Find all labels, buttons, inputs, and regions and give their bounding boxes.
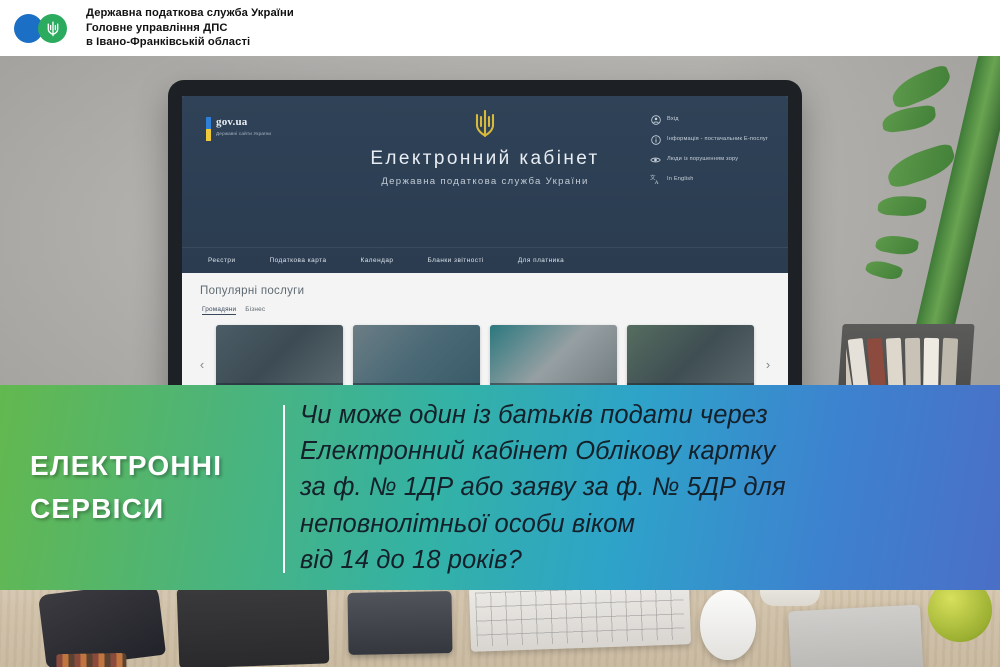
- agency-title-line-1: Державна податкова служба України: [86, 6, 294, 21]
- promo-banner: ЕЛЕКТРОННІ СЕРВІСИ Чи може один із батьк…: [0, 385, 1000, 590]
- tryzub-emblem-icon: [474, 110, 496, 143]
- site-header: Державна податкова служба України Головн…: [0, 0, 1000, 56]
- trackpad: [788, 605, 924, 667]
- agency-title-line-3: в Івано-Франківській області: [86, 35, 294, 50]
- question-line-5: від 14 до 18 років?: [300, 542, 992, 578]
- user-icon: [650, 114, 661, 125]
- nav-item-for-taxpayer[interactable]: Для платника: [518, 257, 564, 264]
- question-line-4: неповнолітньої особи віком: [300, 506, 992, 542]
- translate-icon: 文A: [650, 174, 661, 185]
- cactus-leaf: [877, 194, 926, 217]
- small-notebook: [347, 591, 452, 655]
- svg-text:A: A: [655, 180, 659, 185]
- tab-citizens[interactable]: Громадяни: [202, 306, 236, 315]
- banner-heading-line-2: СЕРВІСИ: [30, 488, 283, 531]
- notebook: [177, 583, 330, 667]
- agency-logo: [14, 12, 76, 44]
- govua-name: gov.ua: [216, 116, 271, 129]
- info-icon: [650, 134, 661, 145]
- tab-business[interactable]: Бізнес: [245, 306, 265, 313]
- utility-item-label: Вхід: [667, 114, 679, 123]
- banner-heading: ЕЛЕКТРОННІ СЕРВІСИ: [0, 385, 283, 590]
- cactus-leaf: [887, 63, 954, 110]
- question-line-2: Електронний кабінет Облікову картку: [300, 433, 992, 469]
- chevron-right-icon[interactable]: ›: [758, 358, 778, 371]
- utility-item-info[interactable]: Інформація - постачальник Е-послуг: [650, 134, 770, 145]
- keyboard: [469, 580, 691, 652]
- nav-item-tax-map[interactable]: Податкова карта: [270, 257, 327, 264]
- ek-main-nav: Реєстри Податкова карта Календар Бланки …: [182, 247, 788, 273]
- banner-question: Чи може один із батьків подати через Еле…: [300, 385, 992, 590]
- utility-item-label: Люди із порушенням зору: [667, 154, 738, 163]
- question-line-1: Чи може один із батьків подати через: [300, 397, 992, 433]
- audience-tabs: Громадяни Бізнес: [202, 306, 265, 315]
- utility-item-accessibility[interactable]: Люди із порушенням зору: [650, 154, 770, 165]
- utility-item-label: Інформація - постачальник Е-послуг: [667, 134, 768, 143]
- keyboard-keys: [475, 585, 685, 646]
- utility-item-login[interactable]: Вхід: [650, 114, 770, 125]
- cactus-leaf: [883, 142, 958, 190]
- ek-site-header: gov.ua Державні сайти України Електронни…: [182, 96, 788, 273]
- agency-title-line-2: Головне управління ДПС: [86, 21, 294, 36]
- banner-divider: [283, 405, 285, 573]
- nav-item-report-forms[interactable]: Бланки звітності: [427, 257, 483, 264]
- govua-logo[interactable]: gov.ua Державні сайти України: [206, 116, 271, 141]
- banner-heading-line-1: ЕЛЕКТРОННІ: [30, 445, 283, 488]
- logo-green-trident-icon: [38, 14, 67, 43]
- popular-services-title: Популярні послуги: [200, 285, 304, 297]
- nav-item-registers[interactable]: Реєстри: [208, 257, 236, 264]
- cactus-plant: [798, 56, 998, 356]
- agency-title-block: Державна податкова служба України Головн…: [86, 6, 294, 51]
- utility-menu: Вхід Інформація - постачальник Е-послуг: [650, 114, 770, 194]
- govua-flag-icon: [206, 117, 211, 141]
- chevron-left-icon[interactable]: ‹: [192, 358, 212, 371]
- pencil-case: [38, 581, 166, 667]
- cactus-leaf: [864, 257, 903, 283]
- govua-subtitle: Державні сайти України: [216, 131, 271, 136]
- mouse: [700, 590, 756, 660]
- question-line-3: за ф. № 1ДР або заяву за ф. № 5ДР для: [300, 469, 992, 505]
- page-root: Державна податкова служба України Головн…: [0, 0, 1000, 667]
- utility-item-language[interactable]: 文A In English: [650, 174, 770, 185]
- nav-item-calendar[interactable]: Календар: [361, 257, 394, 264]
- cactus-leaf: [875, 232, 919, 257]
- utility-item-label: In English: [667, 174, 694, 183]
- cactus-leaf: [881, 104, 938, 133]
- eye-icon: [650, 154, 661, 165]
